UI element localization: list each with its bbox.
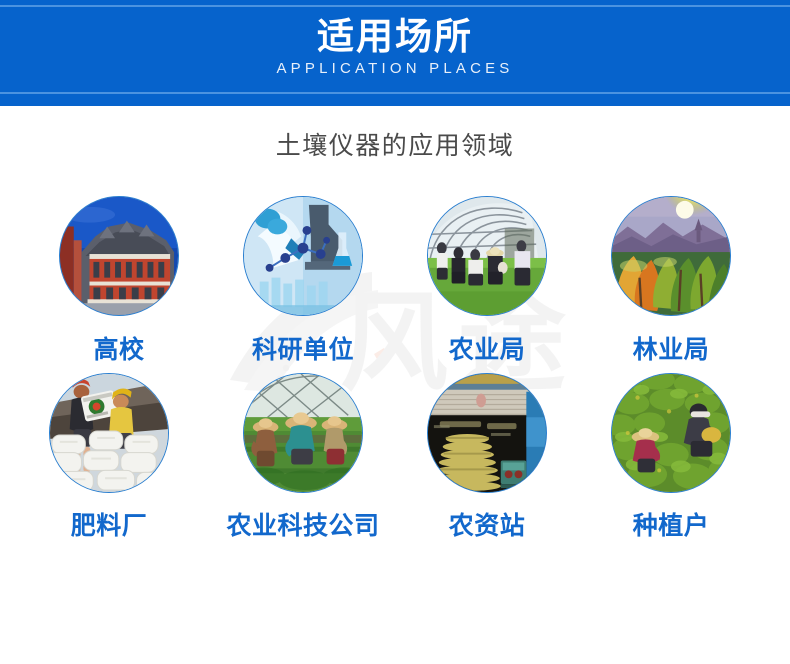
- places-row-2: 肥料厂: [0, 373, 790, 539]
- place-label: 高校: [93, 338, 144, 363]
- places-row-1: 高校: [0, 196, 790, 363]
- place-label: 种植户: [633, 514, 710, 539]
- place-label: 农业科技公司: [226, 514, 379, 539]
- place-card-forestry-bureau[interactable]: 林业局: [579, 196, 763, 363]
- seedling-nursery-photo: [243, 373, 363, 493]
- section-heading: 土壤仪器的应用领域: [0, 126, 790, 162]
- place-card-fertilizer-plant[interactable]: 肥料厂: [17, 373, 201, 539]
- place-label: 肥料厂: [71, 514, 148, 539]
- place-label: 科研单位: [252, 338, 354, 363]
- place-card-agritech-company[interactable]: 农业科技公司: [211, 373, 395, 539]
- banner-text-block: 适用场所 APPLICATION PLACES: [0, 0, 790, 92]
- greenhouse-inspection-photo: [427, 196, 547, 316]
- application-places-grid: 高校: [0, 196, 790, 539]
- place-card-farm-supply-station[interactable]: 农资站: [395, 373, 579, 539]
- place-card-university[interactable]: 高校: [27, 196, 211, 363]
- place-card-research-institute[interactable]: 科研单位: [211, 196, 395, 363]
- banner-title: 适用场所: [317, 16, 473, 59]
- place-label: 林业局: [633, 338, 710, 363]
- place-card-growers[interactable]: 种植户: [579, 373, 763, 539]
- laboratory-research-photo: [243, 196, 363, 316]
- place-card-agriculture-bureau[interactable]: 农业局: [395, 196, 579, 363]
- page-banner: 适用场所 APPLICATION PLACES: [0, 0, 790, 106]
- place-label: 农业局: [449, 338, 526, 363]
- place-label: 农资站: [449, 514, 526, 539]
- banner-bottom-rule: [0, 92, 790, 94]
- fertilizer-sacks-photo: [49, 373, 169, 493]
- banner-subtitle: APPLICATION PLACES: [276, 61, 513, 76]
- farm-supply-store-photo: [427, 373, 547, 493]
- tea-field-harvest-photo: [611, 373, 731, 493]
- university-building-photo: [59, 196, 179, 316]
- autumn-forest-photo: [611, 196, 731, 316]
